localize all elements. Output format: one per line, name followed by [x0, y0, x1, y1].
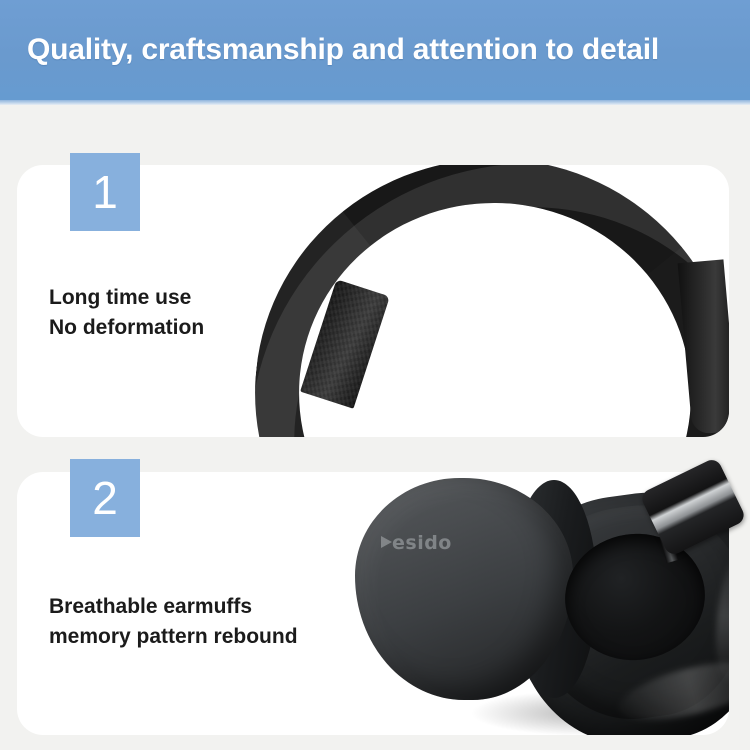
feature-text-2: Breathable earmuffs memory pattern rebou…: [49, 592, 298, 653]
feature-badge-2: 2: [70, 459, 140, 537]
header-banner: Quality, craftsmanship and attention to …: [0, 0, 750, 100]
feature-2-line-1: Breathable earmuffs: [49, 592, 298, 622]
feature-2-line-2: memory pattern rebound: [49, 622, 298, 652]
yesido-brand-logo: esido: [392, 532, 452, 554]
left-earcup-shell: [355, 478, 573, 700]
yesido-logo-triangle-icon: [381, 536, 392, 548]
banner-underline-divider: [0, 100, 750, 105]
feature-text-1: Long time use No deformation: [49, 283, 204, 344]
feature-1-line-2: No deformation: [49, 313, 204, 343]
feature-1-line-1: Long time use: [49, 283, 204, 313]
feature-badge-1: 1: [70, 153, 140, 231]
page-title: Quality, craftsmanship and attention to …: [0, 33, 659, 67]
